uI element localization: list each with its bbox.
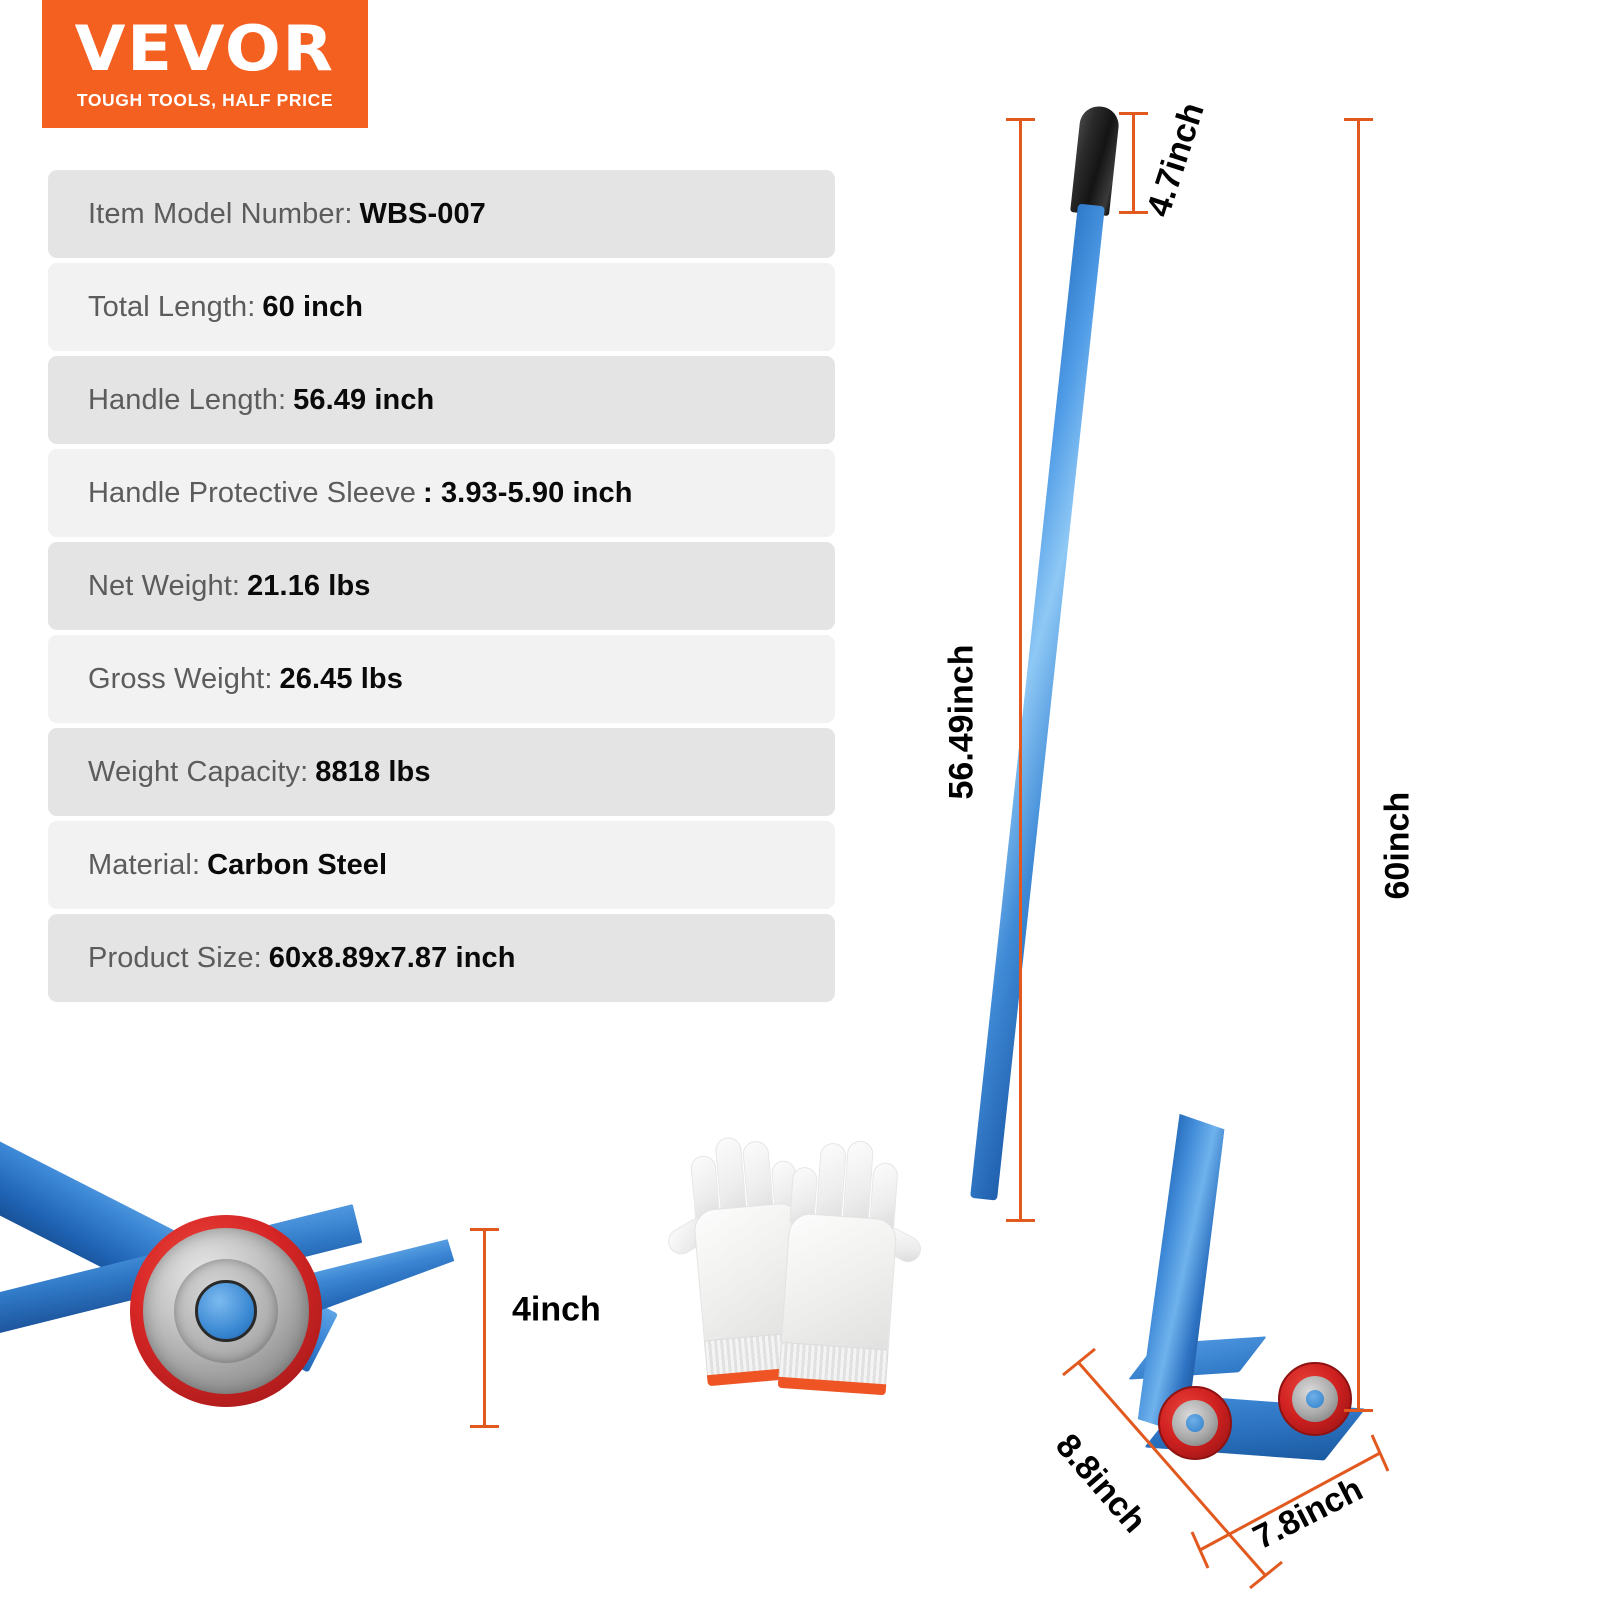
spec-sheet-page: VEVOR TOUGH TOOLS, HALF PRICE Item Model…	[0, 0, 1600, 1600]
dimension-label-total-length: 60inch	[1379, 792, 1418, 900]
spec-value: Carbon Steel	[207, 849, 387, 882]
spec-label: Gross Weight:	[88, 663, 273, 696]
glove-cuff	[778, 1342, 889, 1395]
spec-label: Material:	[88, 849, 200, 882]
dimension-label-handle-length: 56.49inch	[943, 645, 982, 800]
wheel-detail-illustration	[0, 1105, 450, 1465]
spec-label: Weight Capacity:	[88, 756, 308, 789]
spec-value: : 3.93-5.90 inch	[423, 477, 633, 510]
spec-row-gross-weight: Gross Weight: 26.45 lbs	[48, 635, 835, 723]
spec-value: 21.16 lbs	[247, 570, 370, 603]
spec-label: Total Length:	[88, 291, 255, 324]
spec-row-handle-protective-sleeve: Handle Protective Sleeve : 3.93-5.90 inc…	[48, 449, 835, 537]
dimension-line-handle-length	[1019, 118, 1022, 1222]
spec-row-handle-length: Handle Length: 56.49 inch	[48, 356, 835, 444]
detail-bolt-hole	[128, 1377, 143, 1392]
spec-label: Net Weight:	[88, 570, 240, 603]
spec-value: 60x8.89x7.87 inch	[269, 942, 516, 975]
brand-tagline: TOUGH TOOLS, HALF PRICE	[77, 90, 333, 111]
dimension-line-wheel-diameter	[483, 1228, 486, 1428]
handle-grip-sleeve	[1070, 105, 1120, 217]
spec-row-item-model-number: Item Model Number: WBS-007	[48, 170, 835, 258]
specification-list: Item Model Number: WBS-007 Total Length:…	[48, 170, 835, 1007]
work-gloves-illustration	[672, 1122, 922, 1422]
dimension-label-wheel-diameter: 4inch	[512, 1291, 601, 1330]
spec-value: 60 inch	[262, 291, 363, 324]
glove-cuff-band	[778, 1377, 887, 1396]
spec-value: 8818 lbs	[315, 756, 430, 789]
vevor-logo: VEVOR TOUGH TOOLS, HALF PRICE	[42, 0, 368, 128]
spec-label: Item Model Number:	[88, 198, 353, 231]
spec-label: Handle Protective Sleeve	[88, 477, 416, 510]
detail-wheel-axle-cap	[195, 1280, 256, 1341]
dimension-line-total-length	[1357, 118, 1360, 1412]
spec-label: Handle Length:	[88, 384, 286, 417]
detail-wheel	[130, 1215, 322, 1407]
spec-label: Product Size:	[88, 942, 262, 975]
spec-value: 26.45 lbs	[280, 663, 403, 696]
spec-row-total-length: Total Length: 60 inch	[48, 263, 835, 351]
brand-wordmark: VEVOR	[75, 18, 335, 80]
spec-value: 56.49 inch	[293, 384, 434, 417]
dimension-line-grip-sleeve	[1132, 112, 1135, 214]
spec-row-product-size: Product Size: 60x8.89x7.87 inch	[48, 914, 835, 1002]
spec-row-material: Material: Carbon Steel	[48, 821, 835, 909]
spec-row-weight-capacity: Weight Capacity: 8818 lbs	[48, 728, 835, 816]
spec-value: WBS-007	[360, 198, 486, 231]
dimension-line-base-width	[1190, 1410, 1420, 1570]
spec-row-net-weight: Net Weight: 21.16 lbs	[48, 542, 835, 630]
handle-shaft	[970, 204, 1105, 1201]
